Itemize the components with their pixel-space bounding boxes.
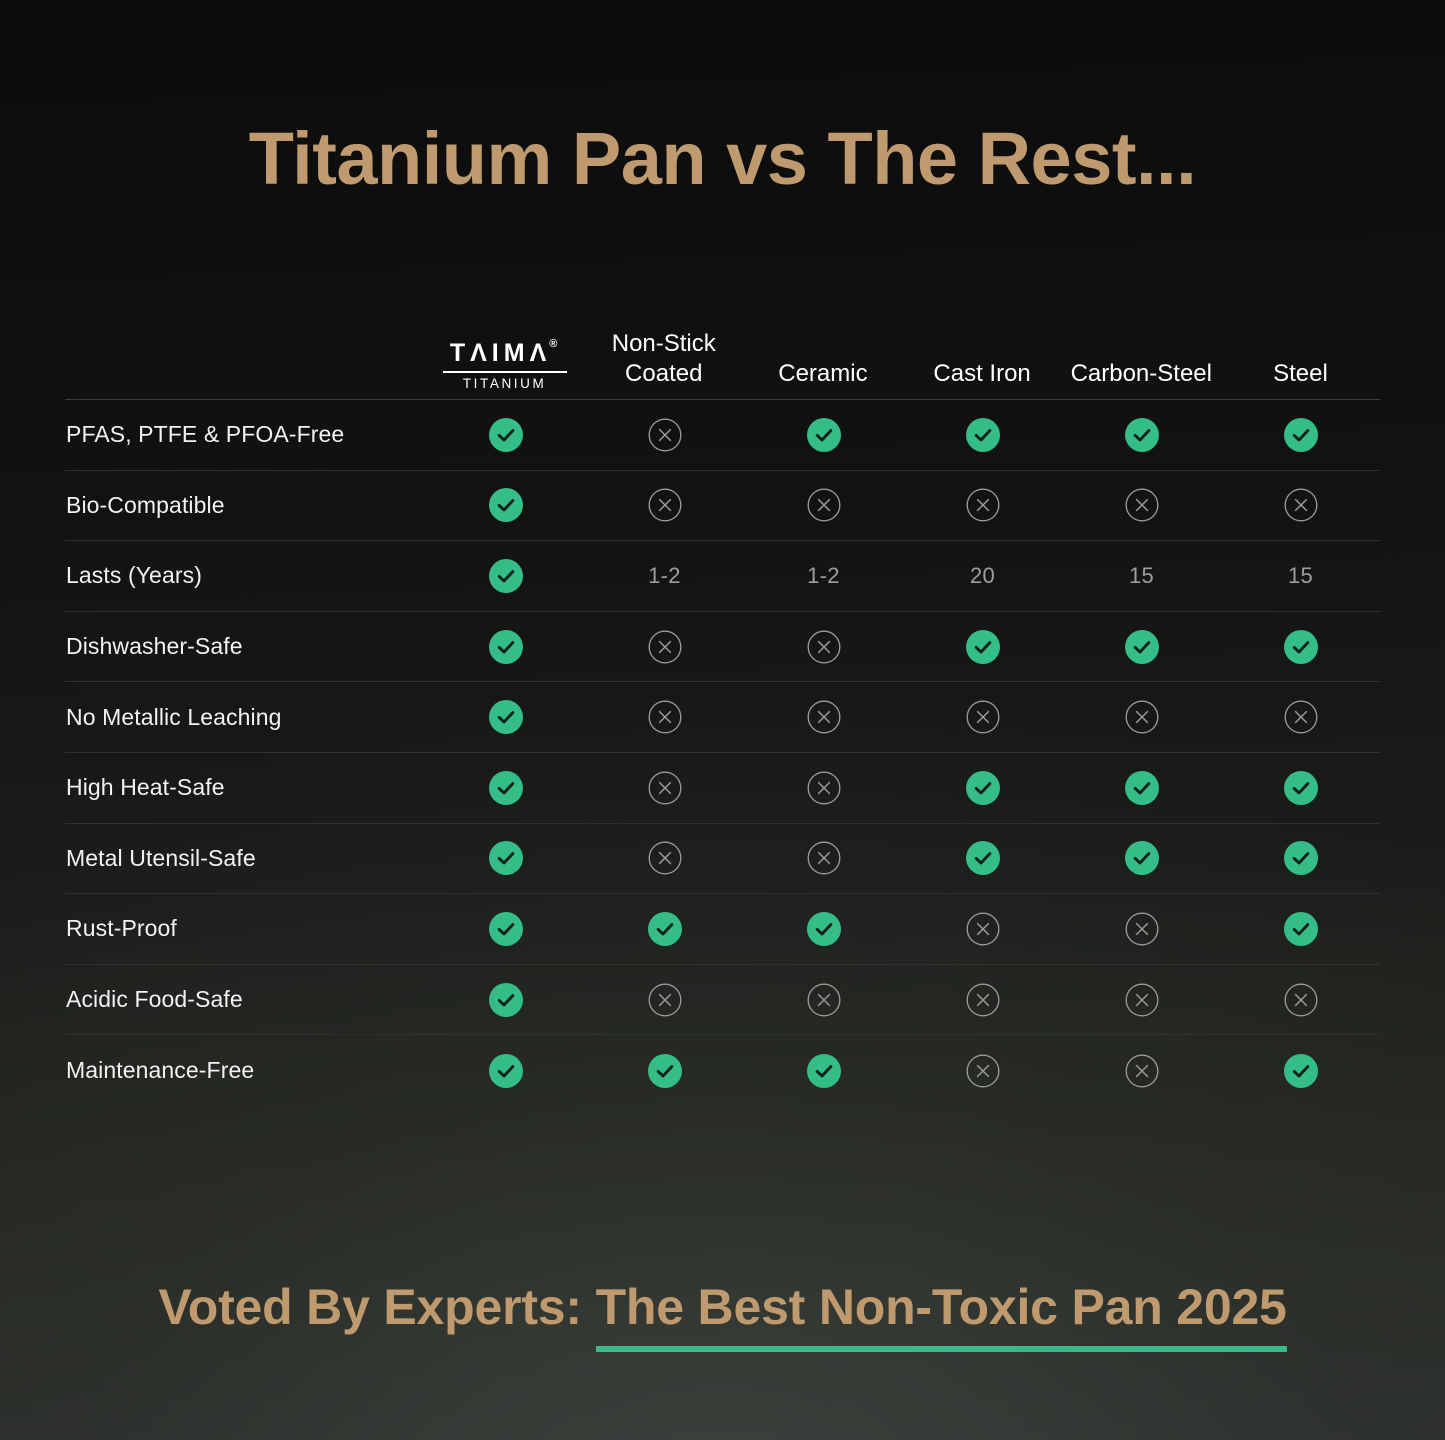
header-cast-iron: Cast Iron xyxy=(903,359,1062,395)
row-feature-label: Metal Utensil-Safe xyxy=(65,845,426,872)
footer-tagline: Voted By Experts: The Best Non-Toxic Pan… xyxy=(0,1278,1445,1344)
check-icon xyxy=(489,912,523,946)
cross-icon xyxy=(1284,488,1318,522)
table-row: Maintenance-Free xyxy=(65,1035,1380,1106)
logo-divider xyxy=(443,371,567,373)
table-row: Dishwasher-Safe xyxy=(65,612,1380,683)
cell-value: 1-2 xyxy=(807,563,840,589)
check-icon xyxy=(489,983,523,1017)
check-icon xyxy=(489,700,523,734)
cell-check xyxy=(744,912,903,946)
cell-check xyxy=(426,1054,585,1088)
cross-icon xyxy=(648,700,682,734)
cell-text: 15 xyxy=(1062,563,1221,589)
cell-cross xyxy=(1062,983,1221,1017)
cell-check xyxy=(426,912,585,946)
cell-cross xyxy=(585,983,744,1017)
cross-icon xyxy=(648,841,682,875)
cell-check xyxy=(1221,1054,1380,1088)
footer-lead: Voted By Experts: xyxy=(158,1279,582,1335)
cell-cross xyxy=(1062,912,1221,946)
logo-letter-a1: Λ xyxy=(470,341,492,366)
check-icon xyxy=(966,630,1000,664)
cell-cross xyxy=(585,841,744,875)
cell-cross xyxy=(744,700,903,734)
cross-icon xyxy=(807,983,841,1017)
cross-icon xyxy=(966,1054,1000,1088)
cell-cross xyxy=(585,418,744,452)
cell-check xyxy=(426,700,585,734)
row-feature-label: PFAS, PTFE & PFOA-Free xyxy=(65,421,426,448)
check-icon xyxy=(1284,630,1318,664)
header-carbon-steel: Carbon-Steel xyxy=(1062,359,1221,395)
registered-mark-icon: ® xyxy=(549,339,557,350)
cell-check xyxy=(903,418,1062,452)
cell-text: 1-2 xyxy=(585,563,744,589)
cell-cross xyxy=(1221,488,1380,522)
check-icon xyxy=(966,841,1000,875)
cell-check xyxy=(426,488,585,522)
cross-icon xyxy=(1125,912,1159,946)
check-icon xyxy=(966,418,1000,452)
table-row: PFAS, PTFE & PFOA-Free xyxy=(65,400,1380,471)
cell-cross xyxy=(903,700,1062,734)
cell-cross xyxy=(744,983,903,1017)
cell-text: 1-2 xyxy=(744,563,903,589)
cell-check xyxy=(903,841,1062,875)
cross-icon xyxy=(807,630,841,664)
cell-check xyxy=(585,1054,744,1088)
cell-check xyxy=(1221,912,1380,946)
cell-check xyxy=(426,630,585,664)
cross-icon xyxy=(807,700,841,734)
check-icon xyxy=(489,418,523,452)
cell-check xyxy=(1221,841,1380,875)
cross-icon xyxy=(648,488,682,522)
check-icon xyxy=(1125,771,1159,805)
cell-check xyxy=(585,912,744,946)
check-icon xyxy=(1125,418,1159,452)
cell-cross xyxy=(1062,700,1221,734)
table-row: Lasts (Years)1-21-2201515 xyxy=(65,541,1380,612)
logo-letter-t: T xyxy=(450,341,470,366)
cross-icon xyxy=(1125,983,1159,1017)
check-icon xyxy=(1284,912,1318,946)
cell-cross xyxy=(903,983,1062,1017)
row-feature-label: Rust-Proof xyxy=(65,915,426,942)
check-icon xyxy=(1125,630,1159,664)
cell-cross xyxy=(585,771,744,805)
taima-wordmark: TΛIMΛ® xyxy=(450,341,560,366)
header-non-stick-coated: Non-Stick Coated xyxy=(584,329,743,395)
row-feature-label: Bio-Compatible xyxy=(65,492,426,519)
row-feature-label: Lasts (Years) xyxy=(65,562,426,589)
logo-letter-a2: Λ xyxy=(530,341,552,366)
cell-check xyxy=(1062,771,1221,805)
row-feature-label: Dishwasher-Safe xyxy=(65,633,426,660)
row-feature-label: Acidic Food-Safe xyxy=(65,986,426,1013)
cross-icon xyxy=(1125,1054,1159,1088)
check-icon xyxy=(1284,771,1318,805)
check-icon xyxy=(489,630,523,664)
cross-icon xyxy=(966,700,1000,734)
cross-icon xyxy=(1125,488,1159,522)
check-icon xyxy=(807,418,841,452)
logo-letter-i: I xyxy=(492,341,504,366)
cell-check xyxy=(426,771,585,805)
cell-check xyxy=(1062,841,1221,875)
table-row: Metal Utensil-Safe xyxy=(65,824,1380,895)
cell-check xyxy=(1221,630,1380,664)
cell-check xyxy=(426,418,585,452)
check-icon xyxy=(1284,418,1318,452)
cell-text: 15 xyxy=(1221,563,1380,589)
page-title: Titanium Pan vs The Rest... xyxy=(0,116,1445,201)
cell-cross xyxy=(585,488,744,522)
comparison-infographic: Titanium Pan vs The Rest... TΛIMΛ® TITAN… xyxy=(0,0,1445,1440)
cell-check xyxy=(903,630,1062,664)
check-icon xyxy=(648,1054,682,1088)
header-non-stick-line2: Coated xyxy=(612,359,716,389)
header-non-stick-line1: Non-Stick xyxy=(612,329,716,359)
check-icon xyxy=(807,1054,841,1088)
check-icon xyxy=(1284,1054,1318,1088)
check-icon xyxy=(1284,841,1318,875)
cell-cross xyxy=(903,912,1062,946)
logo-letter-m: M xyxy=(504,341,530,366)
cell-cross xyxy=(744,841,903,875)
cross-icon xyxy=(966,912,1000,946)
check-icon xyxy=(489,488,523,522)
cell-cross xyxy=(585,700,744,734)
cell-value: 15 xyxy=(1288,563,1313,589)
row-feature-label: No Metallic Leaching xyxy=(65,704,426,731)
cross-icon xyxy=(966,488,1000,522)
table-row: No Metallic Leaching xyxy=(65,682,1380,753)
footer-highlight: The Best Non-Toxic Pan 2025 xyxy=(596,1278,1287,1344)
check-icon xyxy=(807,912,841,946)
cell-cross xyxy=(1062,1054,1221,1088)
cell-cross xyxy=(1221,983,1380,1017)
cell-check xyxy=(1062,630,1221,664)
cell-cross xyxy=(903,488,1062,522)
table-row: Acidic Food-Safe xyxy=(65,965,1380,1036)
cell-check xyxy=(744,1054,903,1088)
table-row: Rust-Proof xyxy=(65,894,1380,965)
cell-check xyxy=(1062,418,1221,452)
cell-check xyxy=(426,983,585,1017)
row-feature-label: High Heat-Safe xyxy=(65,774,426,801)
header-taima-logo: TΛIMΛ® TITANIUM xyxy=(425,341,584,395)
logo-subtitle: TITANIUM xyxy=(463,377,547,391)
cell-cross xyxy=(1062,488,1221,522)
table-header-row: TΛIMΛ® TITANIUM Non-Stick Coated Ceramic… xyxy=(65,322,1380,400)
cell-check xyxy=(744,418,903,452)
cell-cross xyxy=(744,771,903,805)
cell-cross xyxy=(1221,700,1380,734)
check-icon xyxy=(648,912,682,946)
header-steel: Steel xyxy=(1221,359,1380,395)
check-icon xyxy=(1125,841,1159,875)
cell-check xyxy=(1221,418,1380,452)
cross-icon xyxy=(807,488,841,522)
comparison-table: TΛIMΛ® TITANIUM Non-Stick Coated Ceramic… xyxy=(65,322,1380,1106)
row-feature-label: Maintenance-Free xyxy=(65,1057,426,1084)
cell-check xyxy=(426,559,585,593)
table-row: High Heat-Safe xyxy=(65,753,1380,824)
cell-check xyxy=(426,841,585,875)
header-feature-column xyxy=(65,389,425,395)
cross-icon xyxy=(648,983,682,1017)
cell-value: 1-2 xyxy=(648,563,681,589)
cross-icon xyxy=(966,983,1000,1017)
cell-value: 15 xyxy=(1129,563,1154,589)
cell-cross xyxy=(744,488,903,522)
cell-text: 20 xyxy=(903,563,1062,589)
check-icon xyxy=(966,771,1000,805)
cell-check xyxy=(903,771,1062,805)
cell-value: 20 xyxy=(970,563,995,589)
header-ceramic: Ceramic xyxy=(743,359,902,395)
table-row: Bio-Compatible xyxy=(65,471,1380,542)
cross-icon xyxy=(807,771,841,805)
cell-cross xyxy=(744,630,903,664)
cell-check xyxy=(1221,771,1380,805)
cross-icon xyxy=(648,771,682,805)
cross-icon xyxy=(807,841,841,875)
cross-icon xyxy=(648,630,682,664)
cell-cross xyxy=(585,630,744,664)
cross-icon xyxy=(1284,700,1318,734)
cross-icon xyxy=(648,418,682,452)
check-icon xyxy=(489,771,523,805)
cell-cross xyxy=(903,1054,1062,1088)
check-icon xyxy=(489,1054,523,1088)
check-icon xyxy=(489,559,523,593)
cross-icon xyxy=(1125,700,1159,734)
cross-icon xyxy=(1284,983,1318,1017)
check-icon xyxy=(489,841,523,875)
